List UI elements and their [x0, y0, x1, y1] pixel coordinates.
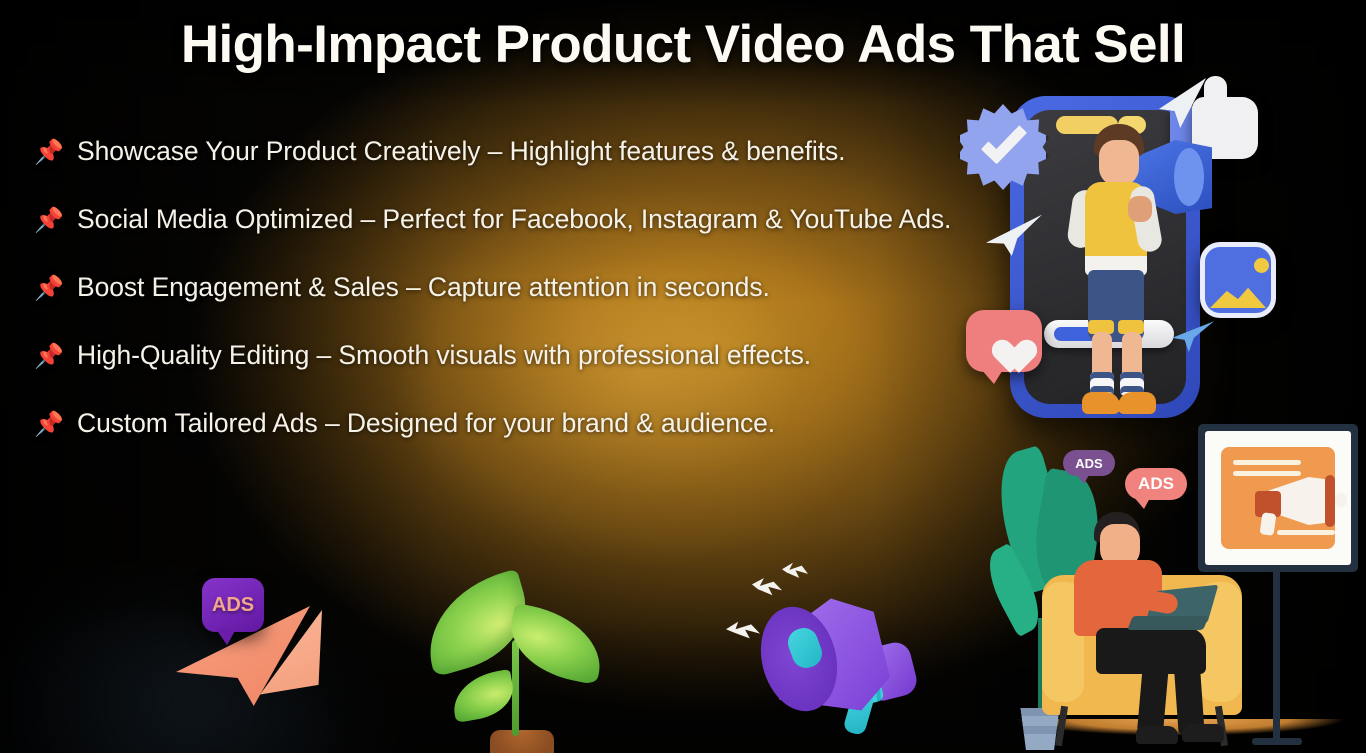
page-title: High-Impact Product Video Ads That Sell [0, 14, 1366, 75]
sprout-leaf-small [449, 669, 518, 723]
megaphone-illustration [740, 572, 940, 753]
thumbs-up-thumb [1204, 76, 1227, 110]
ads-badge-3d: ADS [202, 578, 264, 632]
list-item: 📌 Social Media Optimized – Perfect for F… [34, 199, 964, 241]
poster-text-line [1233, 460, 1301, 465]
poster-text-line [1277, 530, 1335, 535]
pushpin-icon: 📌 [34, 411, 64, 438]
character-face [1099, 140, 1139, 186]
image-icon-sun [1254, 258, 1269, 273]
pushpin-icon: 📌 [34, 275, 64, 302]
paper-plane-illustration: ADS [180, 580, 360, 710]
man-shoe-left [1136, 726, 1178, 744]
list-item: 📌 Custom Tailored Ads – Designed for you… [34, 403, 964, 445]
promo-poster: ADS ADS [0, 0, 1366, 753]
ad-poster [1221, 447, 1335, 549]
megaphone-poster-handle [1260, 512, 1277, 536]
presentation-board [1198, 424, 1358, 572]
laptop-base [1127, 616, 1209, 630]
list-item-text: Social Media Optimized – Perfect for Fac… [70, 204, 952, 234]
character-shoe-right [1118, 392, 1156, 414]
feature-list: 📌 Showcase Your Product Creatively – Hig… [34, 131, 964, 445]
character-hand [1128, 196, 1152, 222]
heart-icon [984, 326, 1024, 362]
list-item-text: Showcase Your Product Creatively – Highl… [70, 136, 846, 166]
ads-bubble-coral-label: ADS [1138, 474, 1174, 494]
pushpin-icon: 📌 [34, 139, 64, 166]
megaphone-mouth-blue [1174, 148, 1204, 206]
sprout-illustration [430, 578, 620, 753]
list-item: 📌 Boost Engagement & Sales – Capture att… [34, 267, 964, 309]
list-item: 📌 High-Quality Editing – Smooth visuals … [34, 335, 964, 377]
phone-marketing-illustration [958, 82, 1288, 432]
megaphone-poster-rim [1325, 475, 1335, 527]
pushpin-icon: 📌 [34, 343, 64, 370]
presentation-board-foot [1252, 738, 1302, 745]
sprout-stem [512, 640, 519, 736]
character-with-megaphone [1068, 124, 1168, 414]
ads-speech-bubble-purple: ADS [1063, 450, 1115, 476]
character-shoe-left [1082, 392, 1120, 414]
freelancer-illustration: ADS ADS [990, 420, 1366, 753]
ads-bubble-purple-label: ADS [1075, 456, 1102, 471]
list-item-text: Boost Engagement & Sales – Capture atten… [70, 272, 770, 302]
pushpin-icon: 📌 [34, 207, 64, 234]
ads-speech-bubble-coral: ADS [1125, 468, 1187, 500]
ads-badge-label: ADS [212, 594, 254, 617]
soil-mound [490, 730, 554, 753]
list-item: 📌 Showcase Your Product Creatively – Hig… [34, 131, 964, 173]
megaphone-poster-knob [1335, 493, 1347, 507]
poster-text-line [1233, 471, 1301, 476]
presentation-board-pole [1273, 568, 1280, 744]
man-shoe-right [1182, 724, 1224, 742]
sound-wave-icon [752, 578, 782, 598]
list-item-text: Custom Tailored Ads – Designed for your … [70, 408, 775, 438]
presentation-board-canvas [1205, 431, 1351, 565]
list-item-text: High-Quality Editing – Smooth visuals wi… [70, 340, 811, 370]
